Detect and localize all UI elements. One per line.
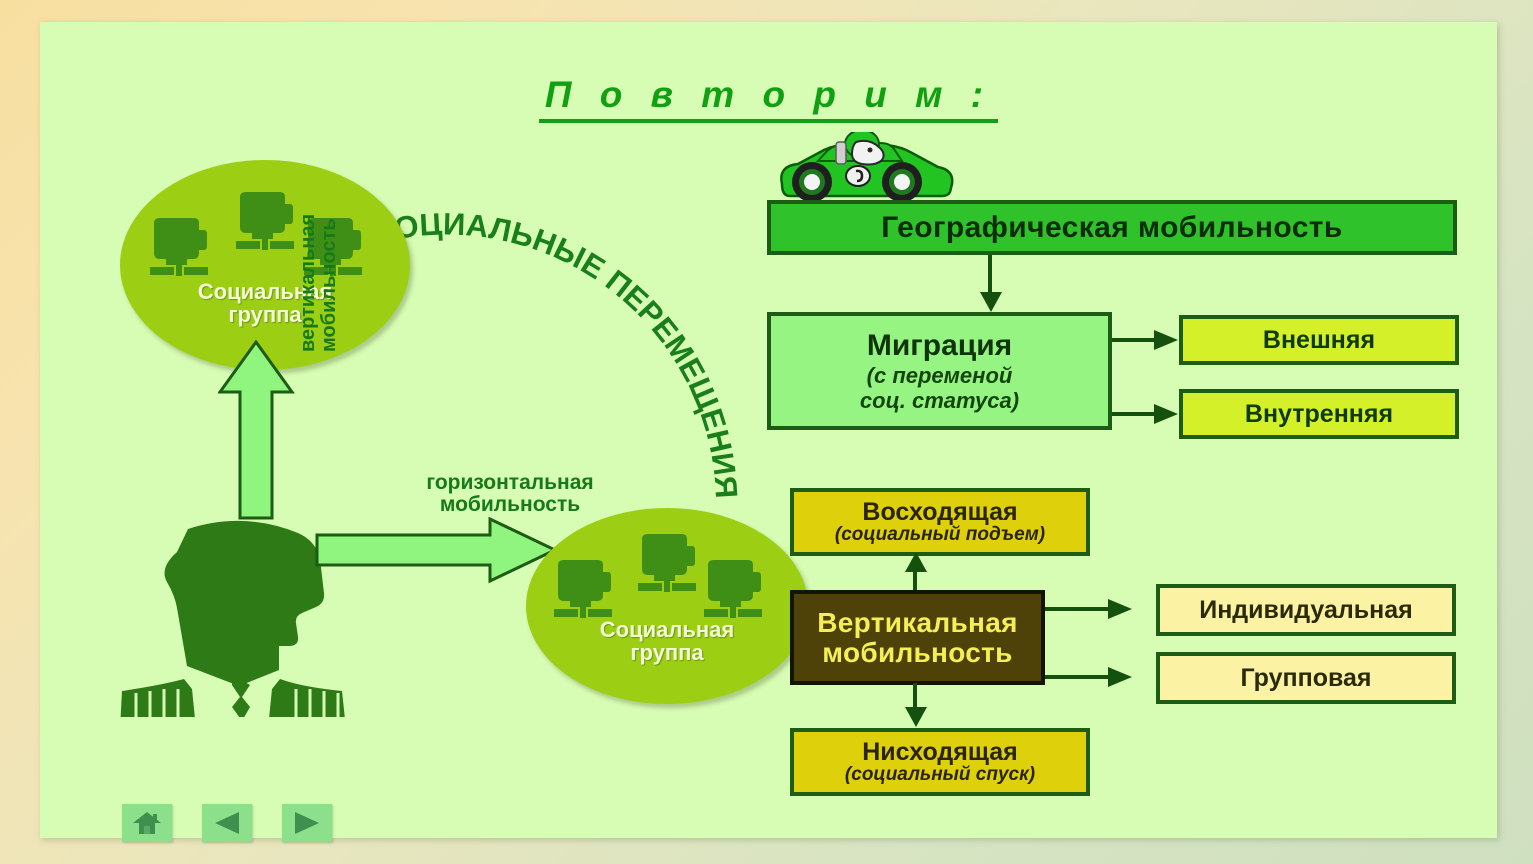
box-internal-migration[interactable]: Внутренняя <box>1179 389 1459 439</box>
connector-vertical-group <box>1045 675 1115 679</box>
box-descending-title: Нисходящая <box>862 739 1018 765</box>
arc-label-text: СОЦИАЛЬНЫЕ ПЕРЕМЕЩЕНИЯ <box>369 206 744 499</box>
box-vertical-mobility[interactable]: Вертикальная мобильность <box>790 590 1045 685</box>
previous-slide-icon <box>213 811 241 835</box>
social-group-ellipse-top: Социальная группа <box>120 160 410 370</box>
arrowhead-vertical-descending <box>903 707 929 729</box>
home-button[interactable] <box>122 804 172 842</box>
social-group-caption-right: Социальная группа <box>526 618 808 664</box>
arrowhead-geo-migration <box>978 292 1004 314</box>
connector-vertical-individual <box>1045 607 1115 611</box>
box-vertical-mobility-line-1: Вертикальная <box>817 608 1017 637</box>
caption-line-1: Социальная <box>120 280 410 303</box>
arrowhead-migration-external <box>1154 329 1180 351</box>
box-descending-subtitle: (социальный спуск) <box>845 765 1035 785</box>
group-people-icons-right <box>526 508 808 704</box>
box-migration[interactable]: Миграция (с переменой соц. статуса) <box>767 312 1112 430</box>
box-vertical-mobility-line-2: мобильность <box>822 638 1012 667</box>
arrowhead-vertical-group <box>1108 666 1134 688</box>
box-individual-mobility[interactable]: Индивидуальная <box>1156 584 1456 636</box>
box-internal-migration-label: Внутренняя <box>1245 401 1393 427</box>
vertical-label-line-2: мобильность <box>319 202 340 352</box>
group-people-icons-top <box>120 160 410 370</box>
box-migration-subtitle-line-1: (с переменой <box>867 364 1013 387</box>
box-descending-mobility[interactable]: Нисходящая (социальный спуск) <box>790 728 1090 796</box>
box-group-mobility-label: Групповая <box>1240 665 1371 691</box>
social-group-caption-top: Социальная группа <box>120 280 410 326</box>
box-ascending-title: Восходящая <box>862 499 1017 525</box>
box-group-mobility[interactable]: Групповая <box>1156 652 1456 704</box>
green-race-car-icon <box>770 132 960 204</box>
page-title-text: П о в т о р и м : <box>539 74 998 123</box>
horizontal-label-line-1: горизонтальная <box>395 472 625 494</box>
slide-canvas: П о в т о р и м : СОЦИАЛЬНЫЕ ПЕРЕМЕЩЕНИЯ <box>40 22 1497 838</box>
box-geographic-mobility[interactable]: Географическая мобильность <box>767 200 1457 255</box>
box-migration-title: Миграция <box>867 330 1012 362</box>
arrowhead-vertical-ascending <box>903 552 929 574</box>
box-external-migration[interactable]: Внешняя <box>1179 315 1459 365</box>
vertical-mobility-arrow <box>218 340 298 520</box>
next-slide-icon <box>293 811 321 835</box>
caption-line-2: группа <box>526 641 808 664</box>
box-migration-subtitle-line-2: соц. статуса) <box>860 389 1019 412</box>
svg-text:СОЦИАЛЬНЫЕ ПЕРЕМЕЩЕНИЯ: СОЦИАЛЬНЫЕ ПЕРЕМЕЩЕНИЯ <box>369 206 744 499</box>
social-group-ellipse-right: Социальная группа <box>526 508 808 704</box>
box-ascending-subtitle: (социальный подъем) <box>835 525 1045 545</box>
box-geographic-mobility-label: Географическая мобильность <box>881 212 1342 244</box>
caption-line-1: Социальная <box>526 618 808 641</box>
vertical-label-line-1: вертикальная <box>298 202 319 352</box>
vertical-mobility-label: вертикальная мобильность <box>298 202 340 352</box>
arrowhead-vertical-individual <box>1108 598 1134 620</box>
home-icon <box>132 810 162 836</box>
caption-line-2: группа <box>120 303 410 326</box>
arrowhead-migration-internal <box>1154 403 1180 425</box>
box-individual-mobility-label: Индивидуальная <box>1199 597 1413 623</box>
page-title: П о в т о р и м : <box>40 74 1497 123</box>
horizontal-mobility-arrow <box>315 517 560 587</box>
box-ascending-mobility[interactable]: Восходящая (социальный подъем) <box>790 488 1090 556</box>
previous-slide-button[interactable] <box>202 804 252 842</box>
box-external-migration-label: Внешняя <box>1263 327 1375 353</box>
next-slide-button[interactable] <box>282 804 332 842</box>
